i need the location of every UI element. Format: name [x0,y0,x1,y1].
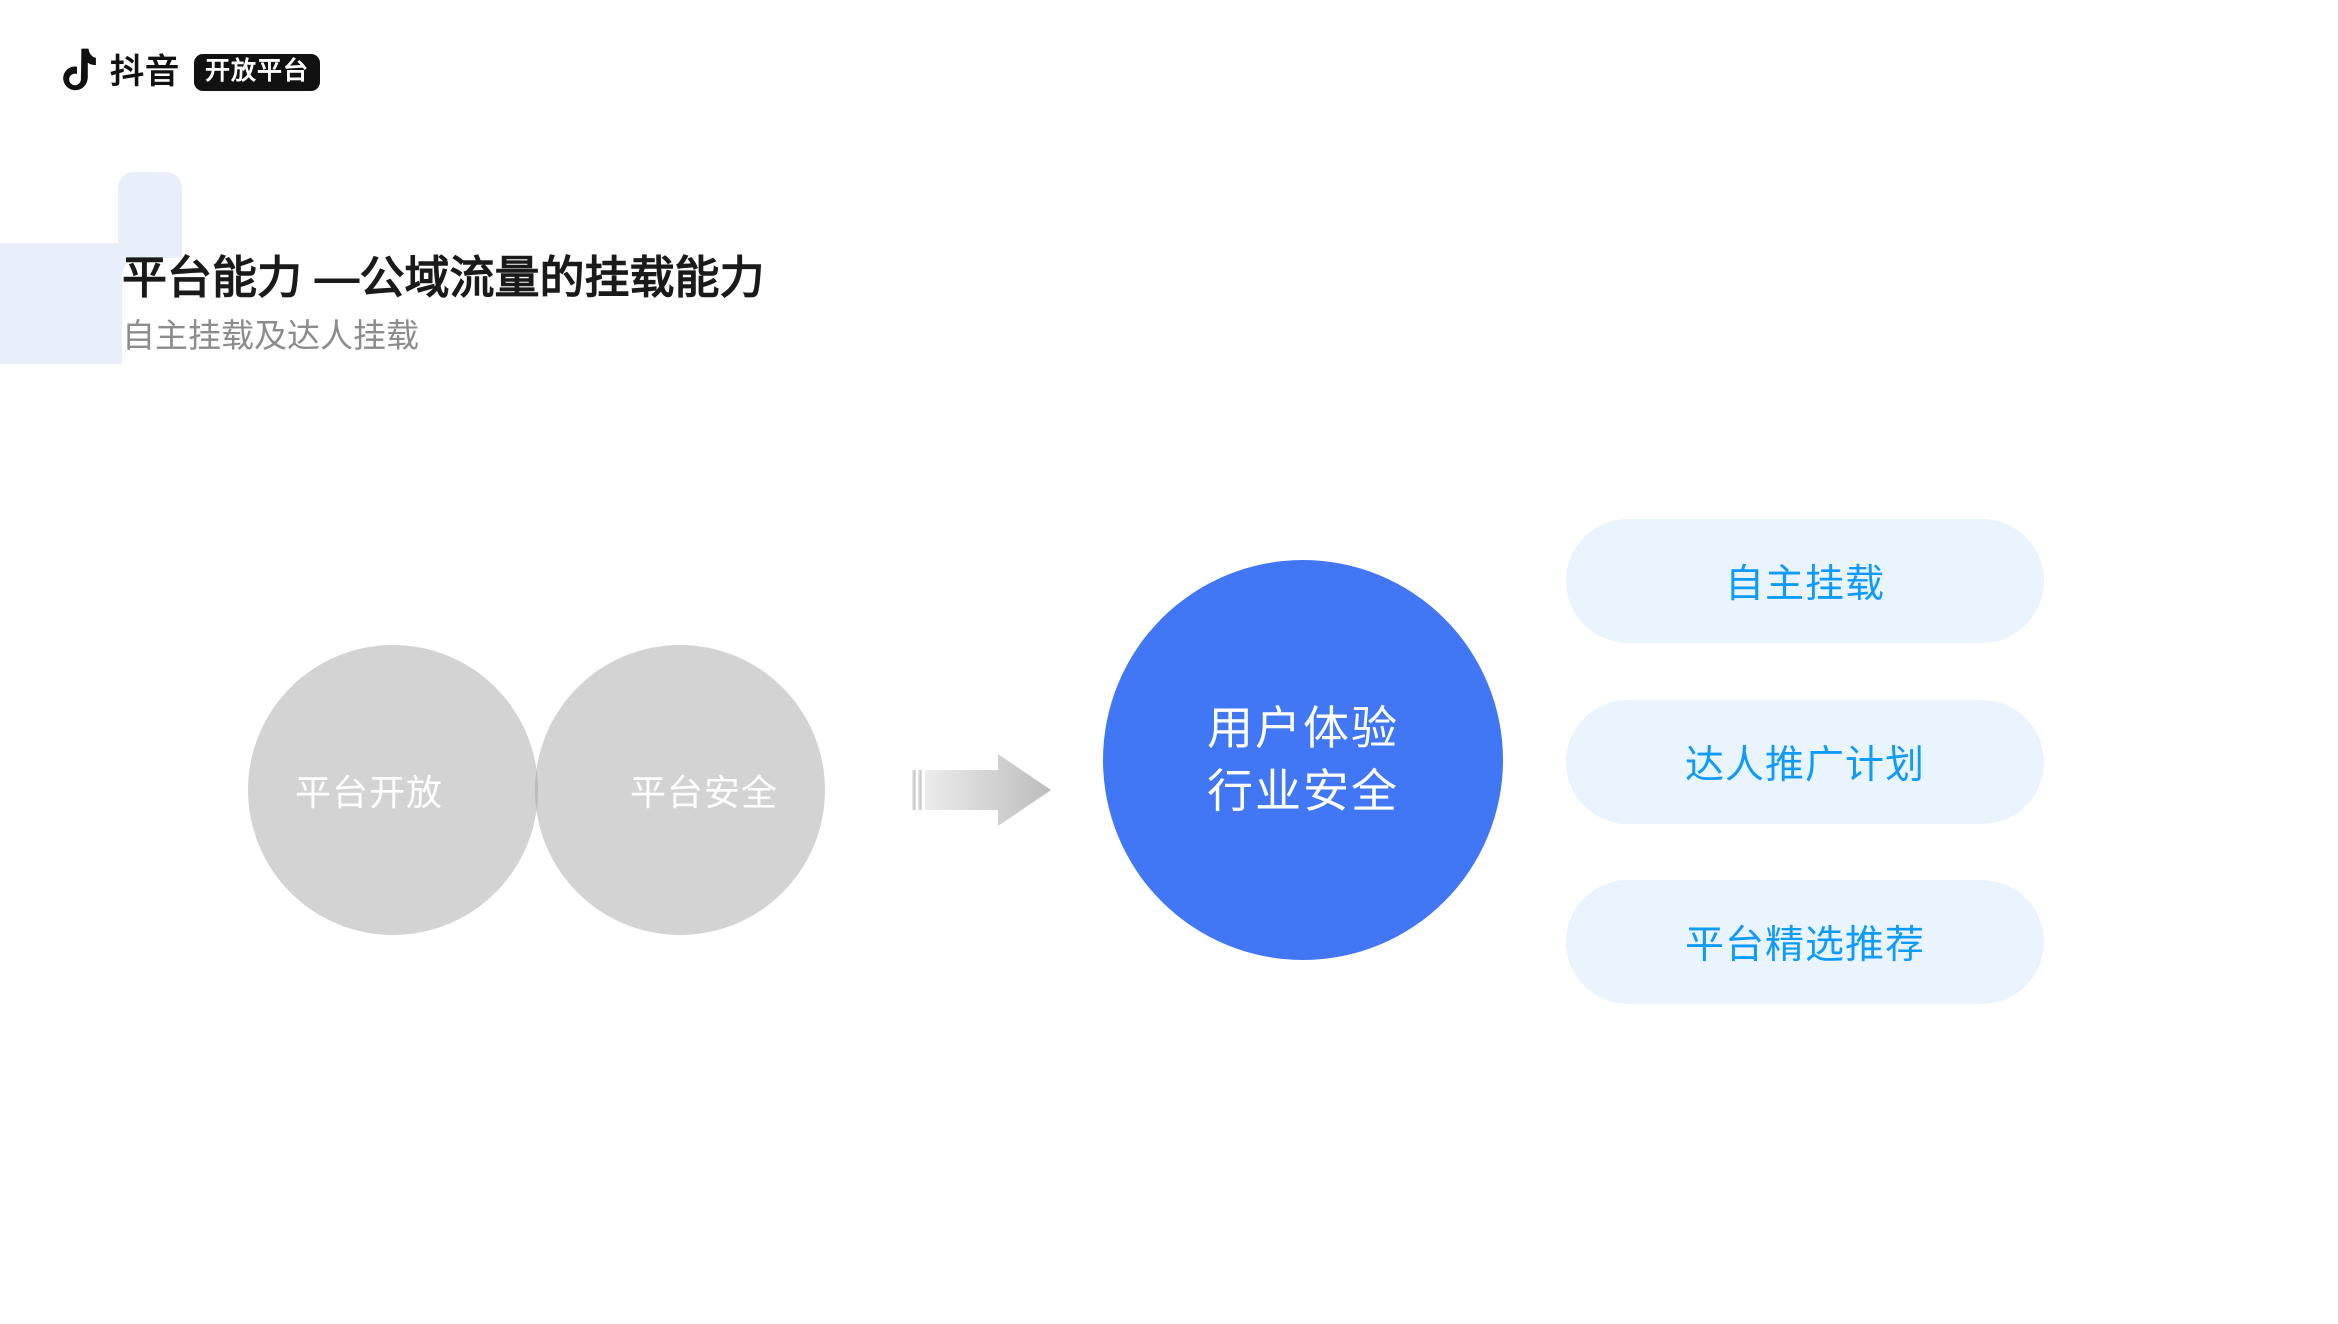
heading-block: 平台能力 —公域流量的挂载能力 自主挂载及达人挂载 [122,250,1422,359]
outcome-pill-creator-promotion-plan[interactable]: 达人推广计划 [1566,700,2044,824]
page-subtitle: 自主挂载及达人挂载 [122,314,1422,359]
capability-flow-diagram: 平台开放 平台安全 用户体验 行业安全 自主挂载 [0,0,2338,1324]
hub-circle-line-1: 用户体验 [1207,699,1399,758]
venn-circle-platform-open: 平台开放 [248,645,538,935]
page-title: 平台能力 —公域流量的挂载能力 [122,250,1422,306]
venn-circle-label: 平台安全 [630,764,778,816]
outcome-pill-platform-featured-recommendation[interactable]: 平台精选推荐 [1566,880,2044,1004]
right-arrow-icon [912,752,1052,828]
outcome-pill-label: 平台精选推荐 [1685,914,1925,970]
outcome-pill-label: 达人推广计划 [1685,734,1925,790]
venn-circle-label: 平台开放 [295,764,443,816]
brand-platform-badge: 开放平台 [194,54,320,91]
brand-logo[interactable]: 抖音 开放平台 [56,44,320,100]
outcome-pill-label: 自主挂载 [1725,553,1885,609]
hub-circle-user-experience: 用户体验 行业安全 [1103,560,1503,960]
venn-circle-platform-security: 平台安全 [535,645,825,935]
slide-canvas: 抖音 开放平台 平台能力 —公域流量的挂载能力 自主挂载及达人挂载 平台开放 平… [0,0,2338,1324]
hub-circle-line-2: 行业安全 [1207,762,1399,821]
brand-name-label: 抖音 [110,55,180,89]
outcome-pill-self-attach[interactable]: 自主挂载 [1566,519,2044,643]
douyin-music-note-icon [56,48,96,96]
